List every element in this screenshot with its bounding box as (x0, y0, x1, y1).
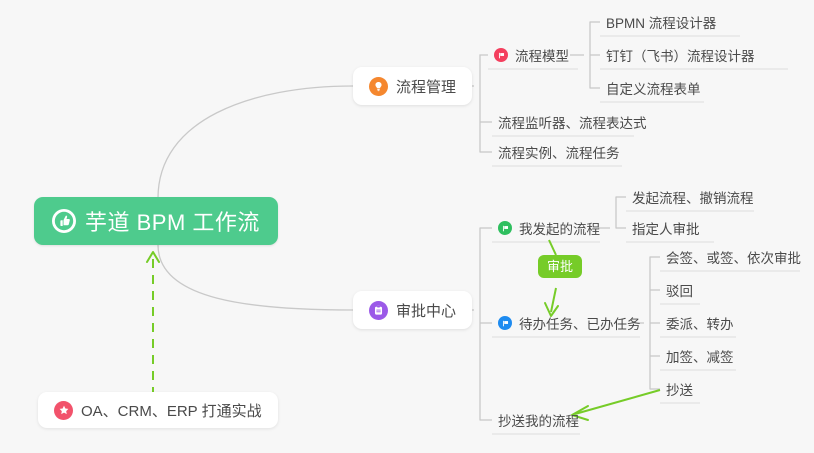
node-process-listener-expression[interactable]: 流程监听器、流程表达式 (492, 108, 653, 136)
node-custom-process-form[interactable]: 自定义流程表单 (600, 74, 707, 102)
label-add-remove-sign: 加签、减签 (666, 346, 734, 366)
label-delegate-transfer: 委派、转办 (666, 313, 734, 333)
callout-label-oa-crm-erp: OA、CRM、ERP 打通实战 (81, 400, 262, 421)
label-my-started-process: 我发起的流程 (519, 218, 600, 238)
arrow-cc-to-ccme (575, 390, 660, 414)
flag-icon (498, 221, 512, 235)
link-root-to-process-management (158, 86, 353, 198)
star-icon (54, 401, 73, 420)
flag-icon (498, 316, 512, 330)
label-reject: 驳回 (666, 280, 693, 300)
root-node[interactable]: 芋道 BPM 工作流 (34, 197, 278, 245)
label-todo-done-tasks: 待办任务、已办任务 (519, 313, 641, 333)
branch-label-approval-center: 审批中心 (396, 300, 456, 321)
link-root-to-approval-center (158, 245, 353, 310)
lightbulb-icon (369, 77, 388, 96)
flag-icon (494, 48, 508, 62)
label-cc-to-me-process: 抄送我的流程 (498, 410, 579, 430)
branch-label-process-management: 流程管理 (396, 76, 456, 97)
node-bpmn-designer[interactable]: BPMN 流程设计器 (600, 8, 722, 36)
clipboard-icon (369, 301, 388, 320)
approval-badge: 审批 (538, 255, 582, 278)
label-countersign-orsign-sequential: 会签、或签、依次审批 (666, 247, 801, 267)
arrow-approval-upper (549, 240, 556, 255)
node-process-model[interactable]: 流程模型 (488, 41, 575, 69)
label-process-model: 流程模型 (515, 45, 569, 65)
node-dingtalk-feishu-designer[interactable]: 钉钉（飞书）流程设计器 (600, 41, 761, 69)
label-process-instance-task: 流程实例、流程任务 (498, 142, 620, 162)
label-bpmn-designer: BPMN 流程设计器 (606, 12, 716, 32)
link-pm-to-model (480, 55, 488, 60)
branch-node-process-management[interactable]: 流程管理 (353, 67, 472, 105)
node-countersign-orsign-sequential[interactable]: 会签、或签、依次审批 (660, 243, 807, 271)
label-process-listener-expression: 流程监听器、流程表达式 (498, 112, 647, 132)
node-process-instance-task[interactable]: 流程实例、流程任务 (492, 138, 626, 166)
node-my-started-process[interactable]: 我发起的流程 (492, 214, 606, 242)
node-add-remove-sign[interactable]: 加签、减签 (660, 342, 740, 370)
label-carbon-copy: 抄送 (666, 379, 693, 399)
node-assignee-approval[interactable]: 指定人审批 (626, 214, 706, 242)
node-delegate-transfer[interactable]: 委派、转办 (660, 309, 740, 337)
node-start-cancel-process[interactable]: 发起流程、撤销流程 (626, 183, 760, 211)
root-label: 芋道 BPM 工作流 (85, 205, 260, 237)
mindmap-canvas: 芋道 BPM 工作流 流程管理 流程模型 BPMN 流程设计器 钉钉（飞书）流程… (0, 0, 814, 453)
thumbs-up-icon (52, 209, 76, 233)
node-reject[interactable]: 驳回 (660, 276, 699, 304)
label-assignee-approval: 指定人审批 (632, 218, 700, 238)
approval-badge-label: 审批 (547, 259, 573, 274)
label-dingtalk-feishu-designer: 钉钉（飞书）流程设计器 (606, 45, 755, 65)
label-start-cancel-process: 发起流程、撤销流程 (632, 187, 754, 207)
label-custom-process-form: 自定义流程表单 (606, 78, 701, 98)
branch-node-approval-center[interactable]: 审批中心 (353, 291, 472, 329)
node-cc-to-me-process[interactable]: 抄送我的流程 (492, 406, 585, 434)
arrow-callout-to-root-head (147, 252, 159, 262)
node-carbon-copy[interactable]: 抄送 (660, 375, 699, 403)
callout-node-oa-crm-erp[interactable]: OA、CRM、ERP 打通实战 (38, 392, 278, 428)
node-todo-done-tasks[interactable]: 待办任务、已办任务 (492, 309, 647, 337)
